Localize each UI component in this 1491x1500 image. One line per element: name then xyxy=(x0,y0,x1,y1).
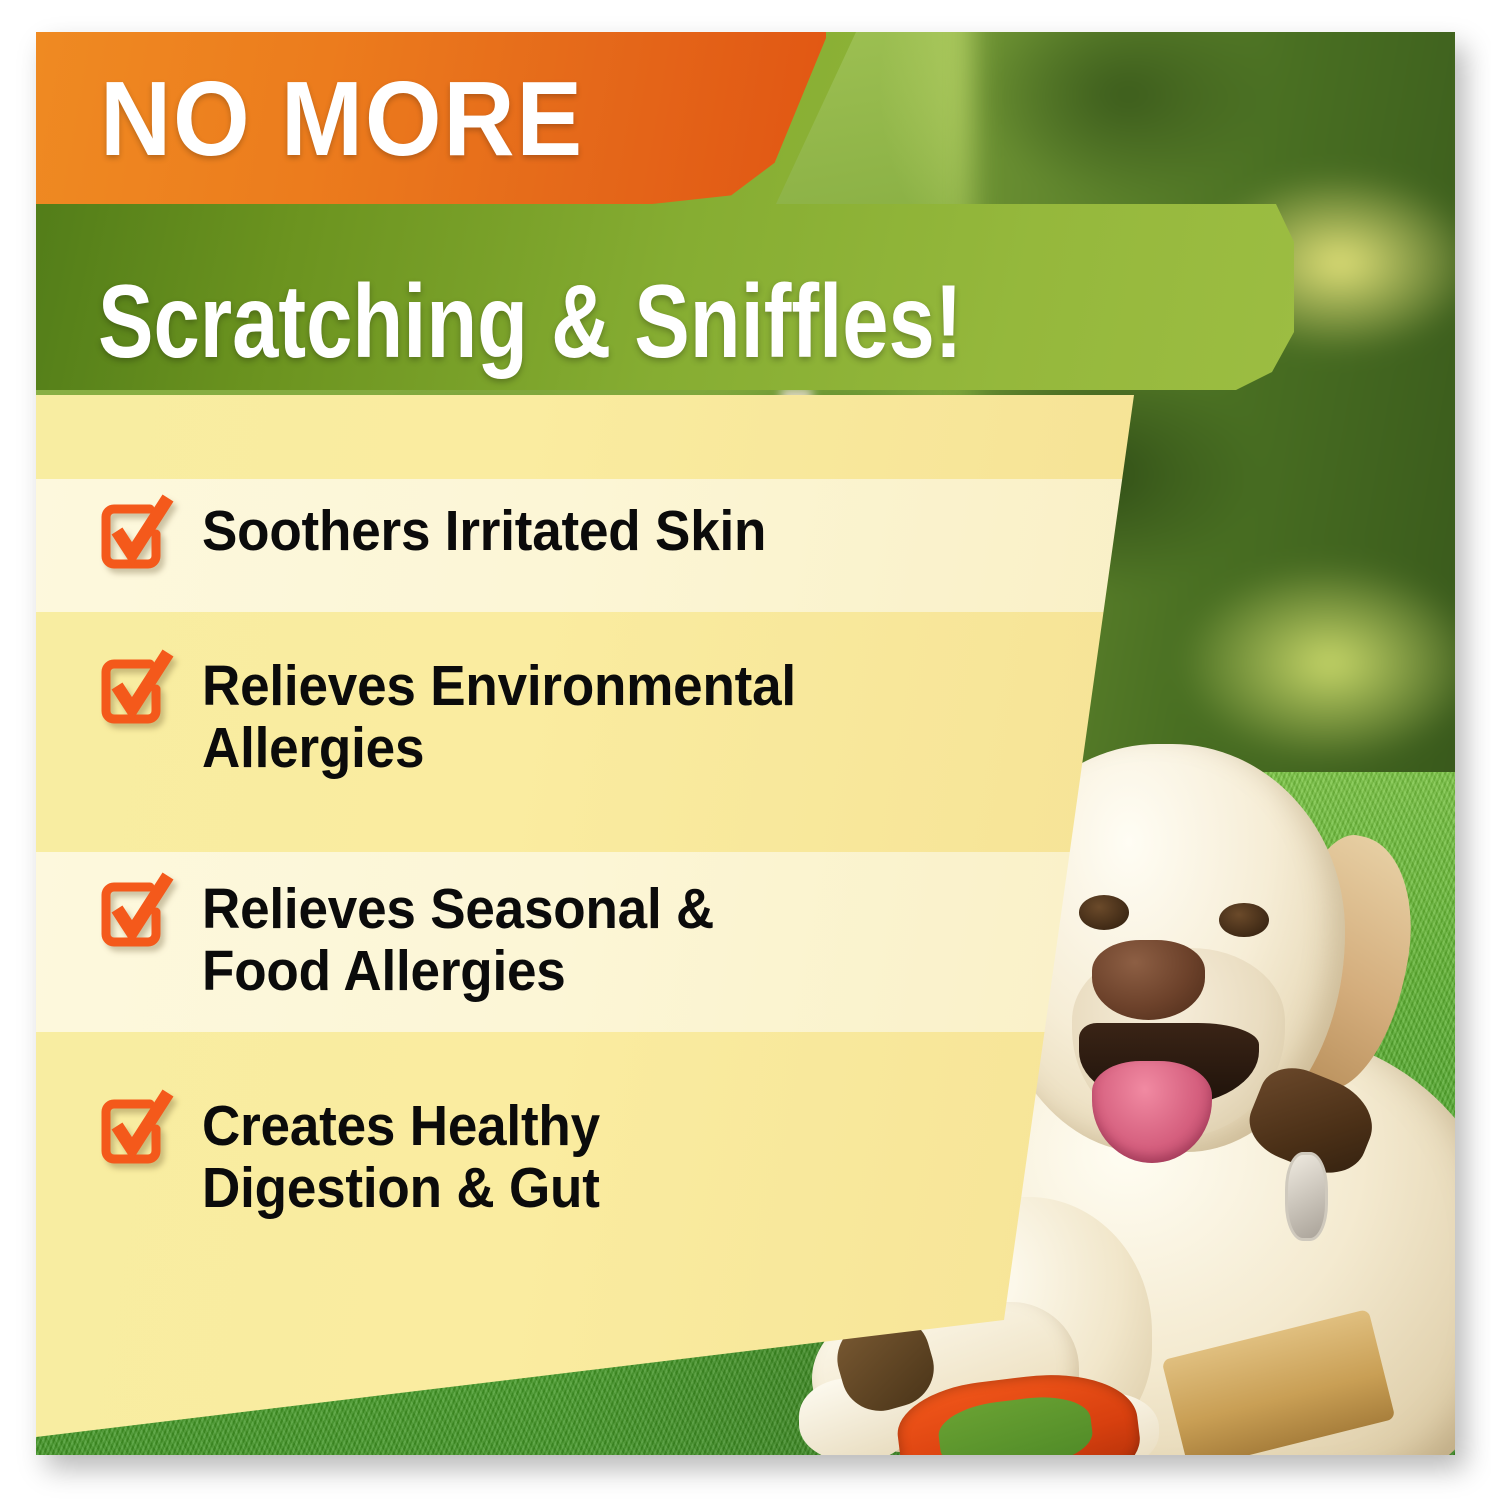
benefit-item-4[interactable]: Creates Healthy Digestion & Gut xyxy=(98,1095,630,1219)
benefits-list: Soothers Irritated Skin Relieves Environ… xyxy=(36,395,1156,1455)
page-title: Scratching & Sniffles! xyxy=(98,270,963,374)
orange-checkbox-checked-icon xyxy=(98,655,170,727)
benefit-text: Creates Healthy Digestion & Gut xyxy=(202,1095,600,1219)
leash-clip xyxy=(1285,1152,1328,1241)
orange-checkbox-checked-icon xyxy=(98,1095,170,1167)
no-more-banner: NO MORE xyxy=(36,32,826,204)
benefit-item-1[interactable]: Soothers Irritated Skin xyxy=(98,500,809,572)
benefit-item-2[interactable]: Relieves Environmental Allergies xyxy=(98,655,841,779)
orange-checkbox-checked-icon xyxy=(98,878,170,950)
dog-eye-right xyxy=(1219,903,1269,938)
benefit-text: Relieves Seasonal & Food Allergies xyxy=(202,878,714,1002)
infographic-card: Soothers Irritated Skin Relieves Environ… xyxy=(36,32,1455,1455)
benefit-text: Relieves Environmental Allergies xyxy=(202,655,796,779)
orange-checkbox-checked-icon xyxy=(98,500,170,572)
banner-label: NO MORE xyxy=(100,66,584,172)
product-infographic: Soothers Irritated Skin Relieves Environ… xyxy=(0,0,1491,1500)
benefit-text: Soothers Irritated Skin xyxy=(202,500,766,562)
benefit-item-3[interactable]: Relieves Seasonal & Food Allergies xyxy=(98,878,753,1002)
